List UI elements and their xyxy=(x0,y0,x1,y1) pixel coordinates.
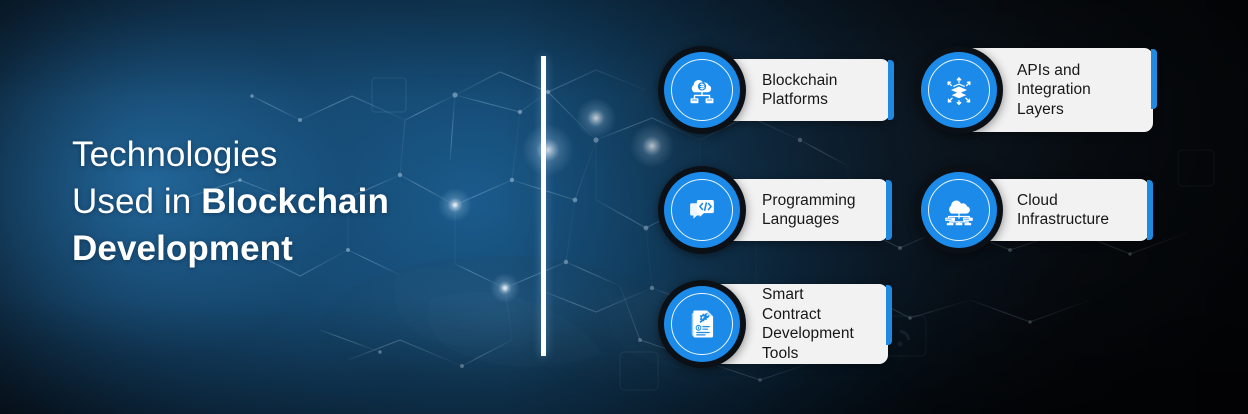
card-label: Smart Contract Development Tools xyxy=(762,285,854,363)
title-line-2-bold: Blockchain xyxy=(201,182,389,221)
contract-gear-wrench-icon xyxy=(683,305,721,343)
vertical-divider xyxy=(541,56,546,356)
badge-cloud-infrastructure[interactable] xyxy=(915,166,1003,254)
api-layers-icon xyxy=(940,71,978,109)
cloud-servers-icon xyxy=(940,191,978,229)
page-title: Technologies Used in Blockchain Developm… xyxy=(72,131,502,272)
title-line-1: Technologies xyxy=(72,135,278,174)
card-label: Blockchain Platforms xyxy=(762,71,837,110)
card-label: APIs and Integration Layers xyxy=(1017,61,1091,120)
title-line-3-bold: Development xyxy=(72,229,293,268)
infographic-banner: Technologies Used in Blockchain Developm… xyxy=(0,0,1248,414)
badge-programming-languages[interactable] xyxy=(658,166,746,254)
card-label: Cloud Infrastructure xyxy=(1017,191,1109,230)
badge-blockchain-platforms[interactable] xyxy=(658,46,746,134)
card-label: Programming Languages xyxy=(762,191,856,230)
badge-smart-contract-development-tools[interactable] xyxy=(658,280,746,368)
title-line-2-plain: Used in xyxy=(72,182,201,221)
cloud-blockchain-network-icon xyxy=(683,71,721,109)
code-brackets-icon xyxy=(683,191,721,229)
badge-apis-integration-layers[interactable] xyxy=(915,46,1003,134)
